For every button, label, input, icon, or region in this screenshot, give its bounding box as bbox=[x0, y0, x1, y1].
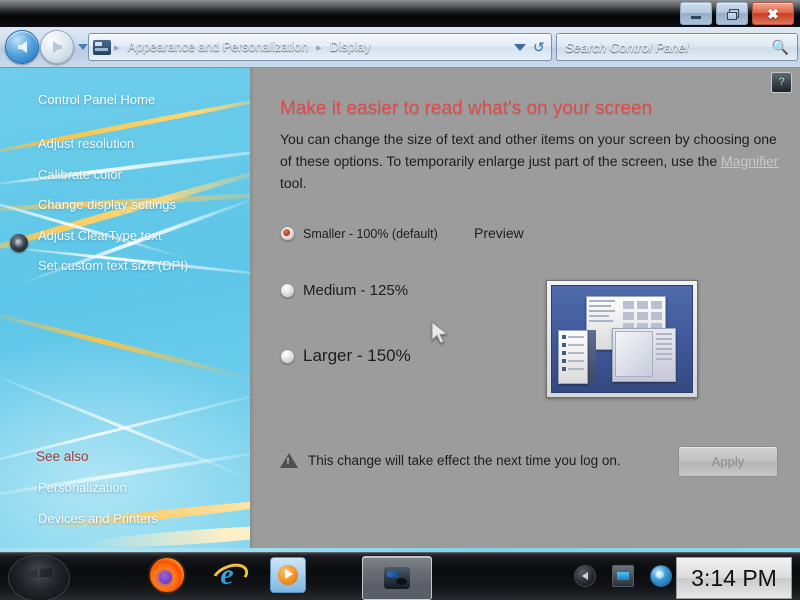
page-title: Make it easier to read what's on your sc… bbox=[280, 98, 652, 120]
screen: ✖ ▸ Appearance and Personalization ▸ D bbox=[0, 0, 800, 600]
taskbar-pinned-items: e bbox=[150, 557, 306, 593]
minimize-button[interactable] bbox=[680, 2, 712, 25]
volume-icon[interactable] bbox=[574, 565, 596, 587]
logon-notice-text: This change will take effect the next ti… bbox=[308, 453, 621, 468]
sidebar-item-control-panel-home[interactable]: Control Panel Home bbox=[38, 92, 155, 107]
preview-desktop bbox=[551, 285, 693, 393]
help-icon[interactable]: ? bbox=[771, 72, 792, 93]
sidebar-item-calibrate-color[interactable]: Calibrate color bbox=[38, 167, 122, 182]
radio-option-smaller[interactable]: Smaller - 100% (default) bbox=[280, 226, 438, 241]
sidebar-item-change-display-settings[interactable]: Change display settings bbox=[38, 197, 176, 212]
apply-button[interactable]: Apply bbox=[678, 446, 778, 477]
logon-notice: This change will take effect the next ti… bbox=[280, 453, 621, 468]
taskbar: e 3:14 PM bbox=[0, 552, 800, 600]
radio-option-smaller-label: Smaller - 100% (default) bbox=[303, 227, 438, 241]
windows-logo-icon bbox=[26, 568, 52, 588]
breadcrumb-item-appearance[interactable]: Appearance and Personalization bbox=[123, 38, 314, 56]
warning-icon bbox=[280, 453, 298, 468]
preview-content-block bbox=[615, 331, 653, 377]
preview-window-list bbox=[558, 330, 588, 384]
restore-button[interactable] bbox=[716, 2, 748, 25]
search-input[interactable]: Search Control Panel bbox=[565, 40, 689, 55]
content-pane: ? Make it easier to read what's on your … bbox=[254, 68, 800, 548]
description-text-part1: You can change the size of text and othe… bbox=[280, 131, 777, 169]
preview-icon-grid bbox=[623, 301, 662, 331]
control-panel-icon bbox=[93, 40, 111, 55]
firefox-icon[interactable] bbox=[150, 558, 184, 592]
search-icon: 🔍 bbox=[772, 39, 789, 56]
system-tray bbox=[574, 565, 672, 587]
radio-option-larger[interactable]: Larger - 150% bbox=[280, 346, 411, 366]
see-also-header: See also bbox=[36, 449, 89, 464]
sidebar-item-adjust-resolution[interactable]: Adjust resolution bbox=[38, 136, 134, 151]
close-button[interactable]: ✖ bbox=[752, 2, 794, 25]
chevron-down-icon[interactable] bbox=[514, 44, 526, 51]
preview-side-rows bbox=[656, 333, 672, 363]
taskbar-button-display[interactable] bbox=[362, 556, 432, 600]
sidebar-item-devices-and-printers[interactable]: Devices and Printers bbox=[38, 511, 158, 526]
back-arrow-icon bbox=[18, 41, 27, 53]
sidebar-item-adjust-cleartype-text[interactable]: Adjust ClearType text bbox=[38, 228, 162, 243]
preview-label: Preview bbox=[474, 225, 524, 241]
radio-smaller-icon[interactable] bbox=[280, 226, 295, 241]
preview-window-front bbox=[612, 328, 676, 382]
navigation-pane: Control Panel Home Adjust resolution Cal… bbox=[0, 68, 250, 548]
wallpaper-swoosh bbox=[0, 306, 250, 383]
sidebar-item-personalization[interactable]: Personalization bbox=[38, 480, 127, 495]
control-panel-taskbar-icon bbox=[384, 567, 410, 589]
history-dropdown-icon[interactable] bbox=[78, 44, 88, 50]
windows-media-player-icon[interactable] bbox=[270, 557, 306, 593]
radio-option-larger-label: Larger - 150% bbox=[303, 346, 411, 366]
radio-option-medium-label: Medium - 125% bbox=[303, 282, 408, 299]
forward-button[interactable] bbox=[40, 30, 74, 64]
forward-arrow-icon bbox=[53, 41, 62, 53]
search-box[interactable]: Search Control Panel 🔍 bbox=[556, 33, 798, 61]
page-description: You can change the size of text and othe… bbox=[280, 128, 784, 194]
navigation-buttons bbox=[5, 30, 88, 64]
minimize-icon bbox=[691, 16, 701, 19]
address-toolbar: ▸ Appearance and Personalization ▸ Displ… bbox=[0, 27, 800, 68]
breadcrumb-separator-icon-2: ▸ bbox=[316, 41, 322, 54]
radio-medium-icon[interactable] bbox=[280, 283, 295, 298]
description-text-part2: tool. bbox=[280, 175, 306, 191]
taskbar-clock[interactable]: 3:14 PM bbox=[676, 557, 792, 599]
internet-explorer-icon[interactable]: e bbox=[210, 558, 244, 592]
network-icon[interactable] bbox=[612, 565, 634, 587]
radio-option-medium[interactable]: Medium - 125% bbox=[280, 282, 408, 299]
address-bar-actions: ↻ bbox=[514, 40, 551, 54]
restore-icon bbox=[727, 9, 738, 19]
preview-thumbnail bbox=[546, 280, 698, 398]
start-button[interactable] bbox=[8, 555, 70, 600]
preview-list-items bbox=[562, 335, 584, 375]
ie-glyph: e bbox=[220, 560, 233, 590]
window-controls: ✖ bbox=[680, 2, 794, 25]
action-center-icon[interactable] bbox=[650, 565, 672, 587]
refresh-icon[interactable]: ↻ bbox=[533, 40, 545, 54]
shield-icon bbox=[10, 234, 28, 252]
sidebar-item-set-custom-text-size[interactable]: Set custom text size (DPI) bbox=[38, 258, 188, 273]
breadcrumb-separator-icon: ▸ bbox=[114, 41, 120, 54]
magnifier-link[interactable]: Magnifier bbox=[721, 153, 779, 169]
title-bar[interactable]: ✖ bbox=[0, 0, 800, 27]
control-panel-window: ✖ ▸ Appearance and Personalization ▸ D bbox=[0, 0, 800, 548]
address-bar[interactable]: ▸ Appearance and Personalization ▸ Displ… bbox=[88, 33, 552, 61]
breadcrumb-item-display[interactable]: Display bbox=[325, 38, 376, 56]
radio-larger-icon[interactable] bbox=[280, 349, 295, 364]
close-icon: ✖ bbox=[767, 7, 779, 21]
back-button[interactable] bbox=[5, 30, 39, 64]
